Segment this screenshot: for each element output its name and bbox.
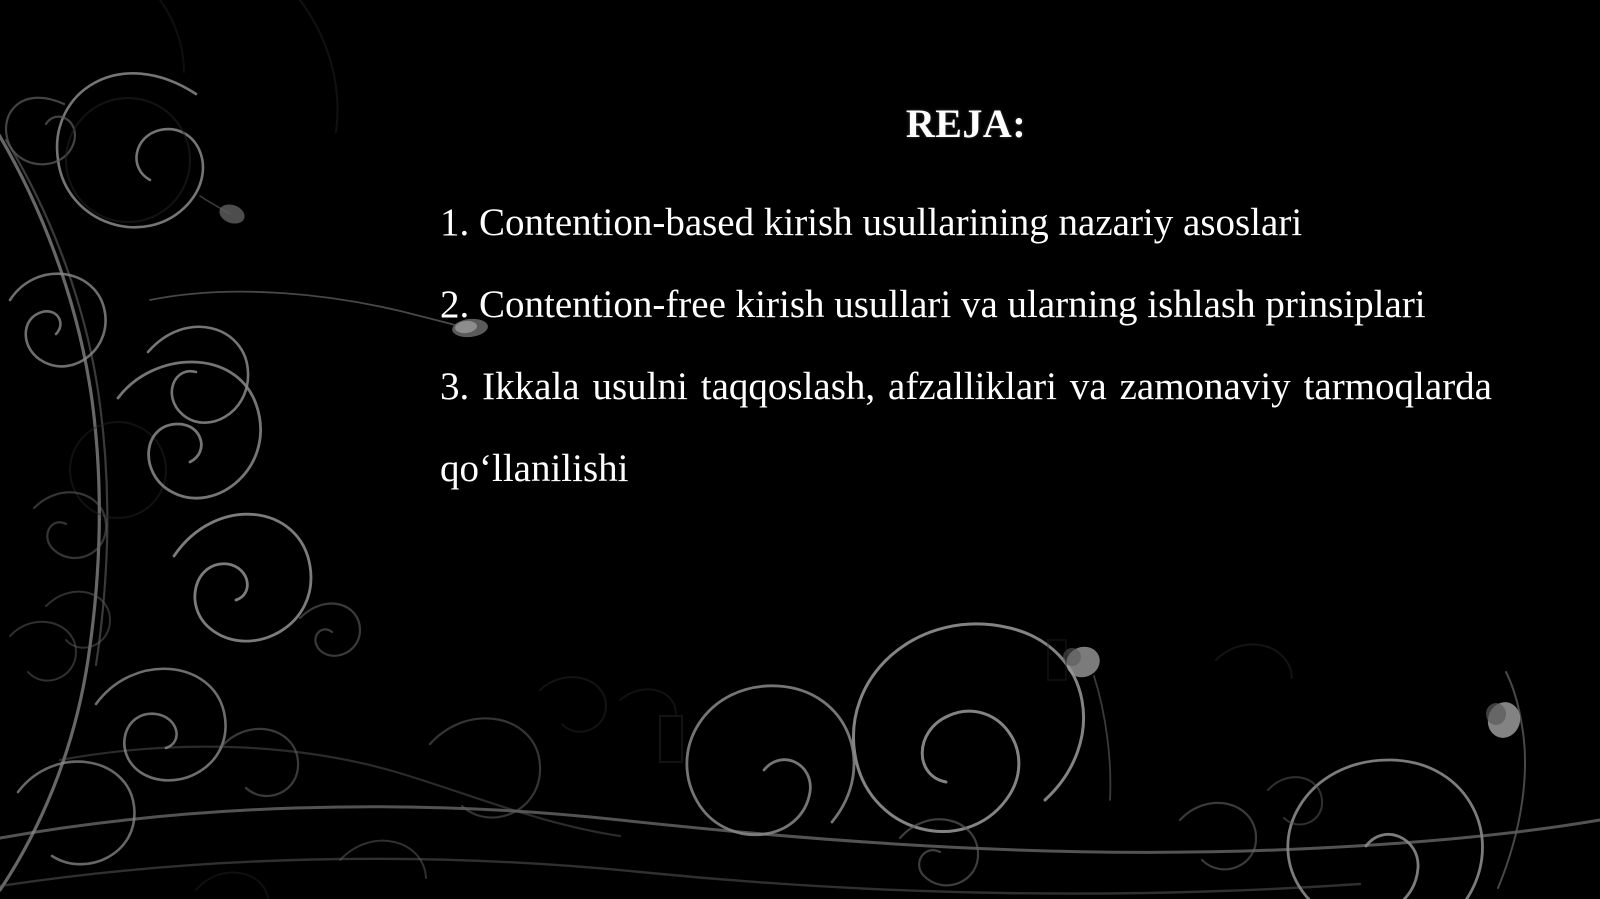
list-item: 2. Contention-free kirish usullari va ul…: [440, 264, 1492, 346]
list-item: 3. Ikkala usulni taqqoslash, afzalliklar…: [440, 346, 1492, 510]
agenda-list: 1. Contention-based kirish usullarining …: [440, 182, 1492, 510]
list-item: 1. Contention-based kirish usullarining …: [440, 182, 1492, 264]
slide-content: REJA: 1. Contention-based kirish usullar…: [440, 0, 1492, 899]
presentation-slide: REJA: 1. Contention-based kirish usullar…: [0, 0, 1600, 899]
page-title: REJA:: [440, 102, 1492, 146]
